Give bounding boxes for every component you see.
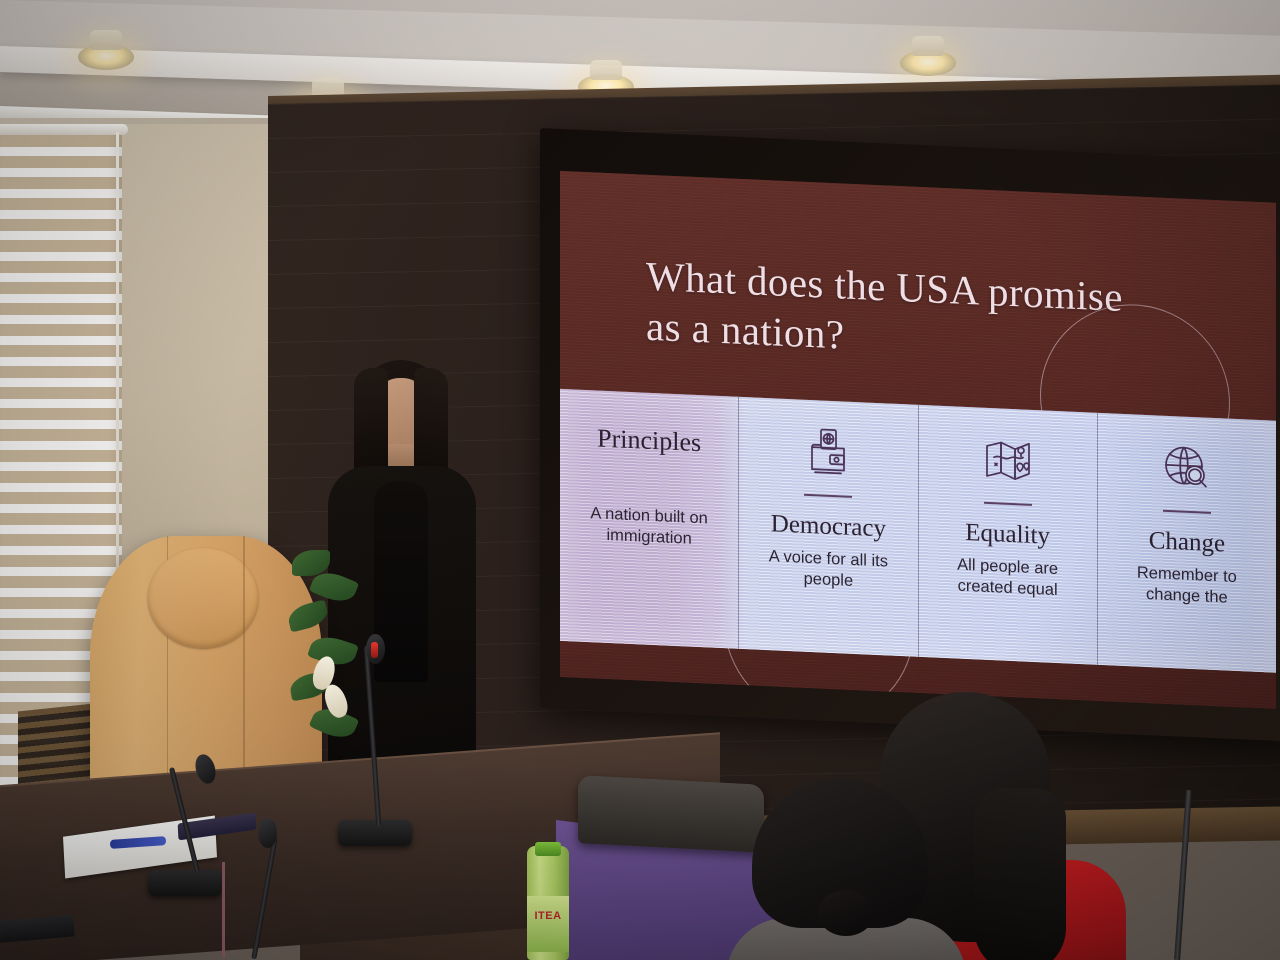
ballot-wallet-icon xyxy=(806,418,850,488)
bottle-cap xyxy=(535,842,561,856)
lectern-emblem xyxy=(148,548,258,648)
ceiling-light-icon xyxy=(900,50,956,76)
card-body-text: A voice for all its people xyxy=(749,545,907,594)
audience-hair-strand xyxy=(974,788,1066,960)
card-divider xyxy=(984,502,1032,506)
card-heading: Equality xyxy=(965,518,1050,549)
slide-card-change: Change Remember to change the xyxy=(1098,413,1276,673)
audience-hair-bun xyxy=(818,890,874,936)
slide-card-band: Principles A nation built on immigration xyxy=(560,389,1276,673)
card-body-text: All people are created equal xyxy=(929,553,1087,602)
microphone-cable xyxy=(222,862,225,958)
bottle-label: ITEA xyxy=(527,896,569,952)
bottle-brand-text: ITEA xyxy=(527,896,569,922)
slide-card-equality: Equality All people are created equal xyxy=(919,405,1098,665)
card-heading: Principles xyxy=(597,425,701,458)
presentation-slide: What does the USA promise as a nation? P… xyxy=(560,171,1276,709)
conference-room-scene: What does the USA promise as a nation? P… xyxy=(0,0,1280,960)
slide-card-democracy: Democracy A voice for all its people xyxy=(739,397,918,657)
projection-screen-frame: What does the USA promise as a nation? P… xyxy=(540,128,1280,741)
card-heading: Change xyxy=(1149,527,1225,558)
ceiling-light-icon xyxy=(78,44,134,70)
blind-rod xyxy=(0,124,128,135)
card-divider xyxy=(1163,510,1211,514)
card-heading: Democracy xyxy=(771,510,886,543)
card-divider xyxy=(804,494,852,498)
office-chair xyxy=(578,775,764,853)
card-body-text: Remember to change the xyxy=(1108,561,1266,610)
slide-card-principles: Principles A nation built on immigration xyxy=(560,389,739,649)
audience-member-front xyxy=(752,778,942,960)
folded-map-icon xyxy=(983,426,1033,496)
card-body-text: A nation built on immigration xyxy=(570,502,728,551)
globe-search-icon xyxy=(1162,434,1212,504)
